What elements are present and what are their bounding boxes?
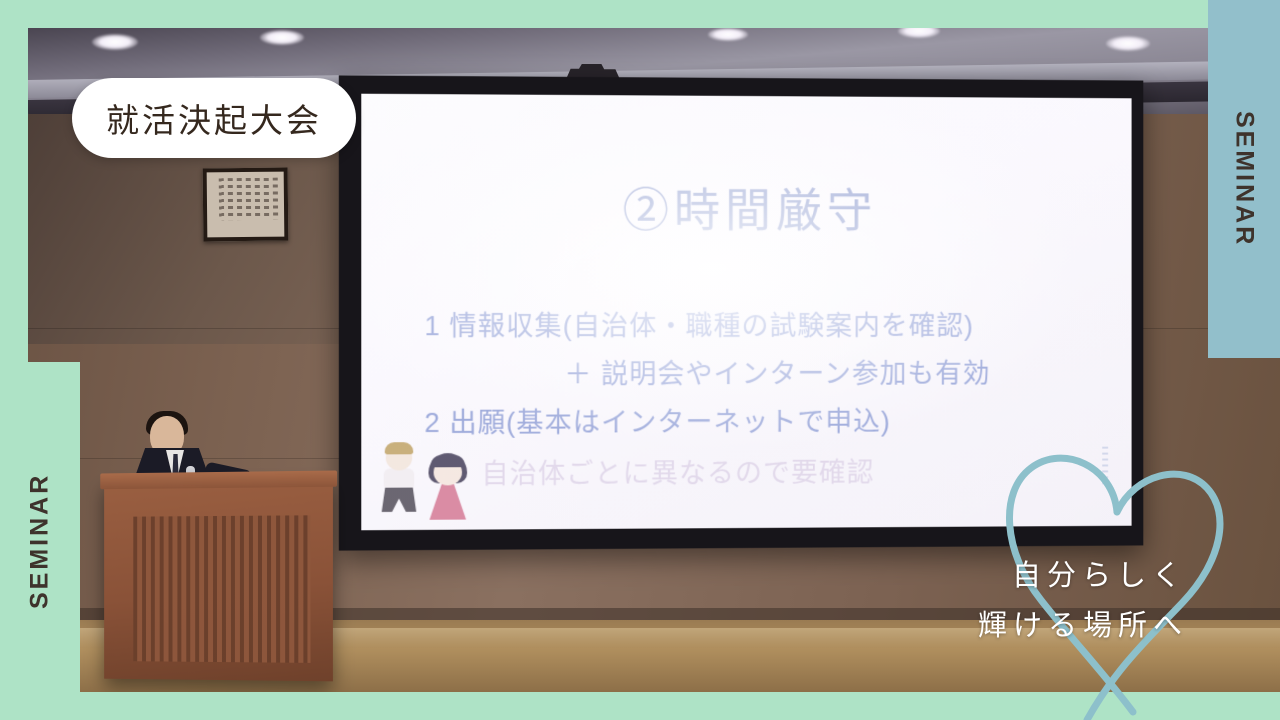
slide-line-2: ＋ 説明会やインターン参加も有効 [564,352,990,392]
frame-bottom-left-block [0,692,638,720]
ceiling-light-2 [260,30,304,45]
ceiling-light-3 [708,28,748,41]
title-pill: 就活決起大会 [72,78,356,158]
slide-line-1: 1 情報収集(自治体・職種の試験案内を確認) [424,304,973,343]
ceiling-light-1 [92,34,138,50]
slide-heading: ②時間厳守 [361,173,1131,241]
slide-illustration-kids [369,437,501,530]
slide-line-3: 2 出願(基本はインターネットで申込) [424,400,890,440]
handwriting-line-2: 輝ける場所へ [978,602,1188,644]
certificate-text [213,178,279,232]
wall-seam-1 [28,328,358,329]
seminar-label-right: SEMINAR [1208,0,1280,358]
podium [104,479,333,682]
framed-certificate [203,168,289,242]
podium-grille [133,515,310,663]
podium-top [100,470,337,489]
slide-line-4: 自治体ごとに異なるので要確認 [481,451,874,492]
frame-top-band [0,0,1280,28]
handwriting-line-1: 自分らしく [1012,552,1187,594]
ceiling-light-5 [1106,36,1150,51]
seminar-label-left: SEMINAR [0,362,80,720]
